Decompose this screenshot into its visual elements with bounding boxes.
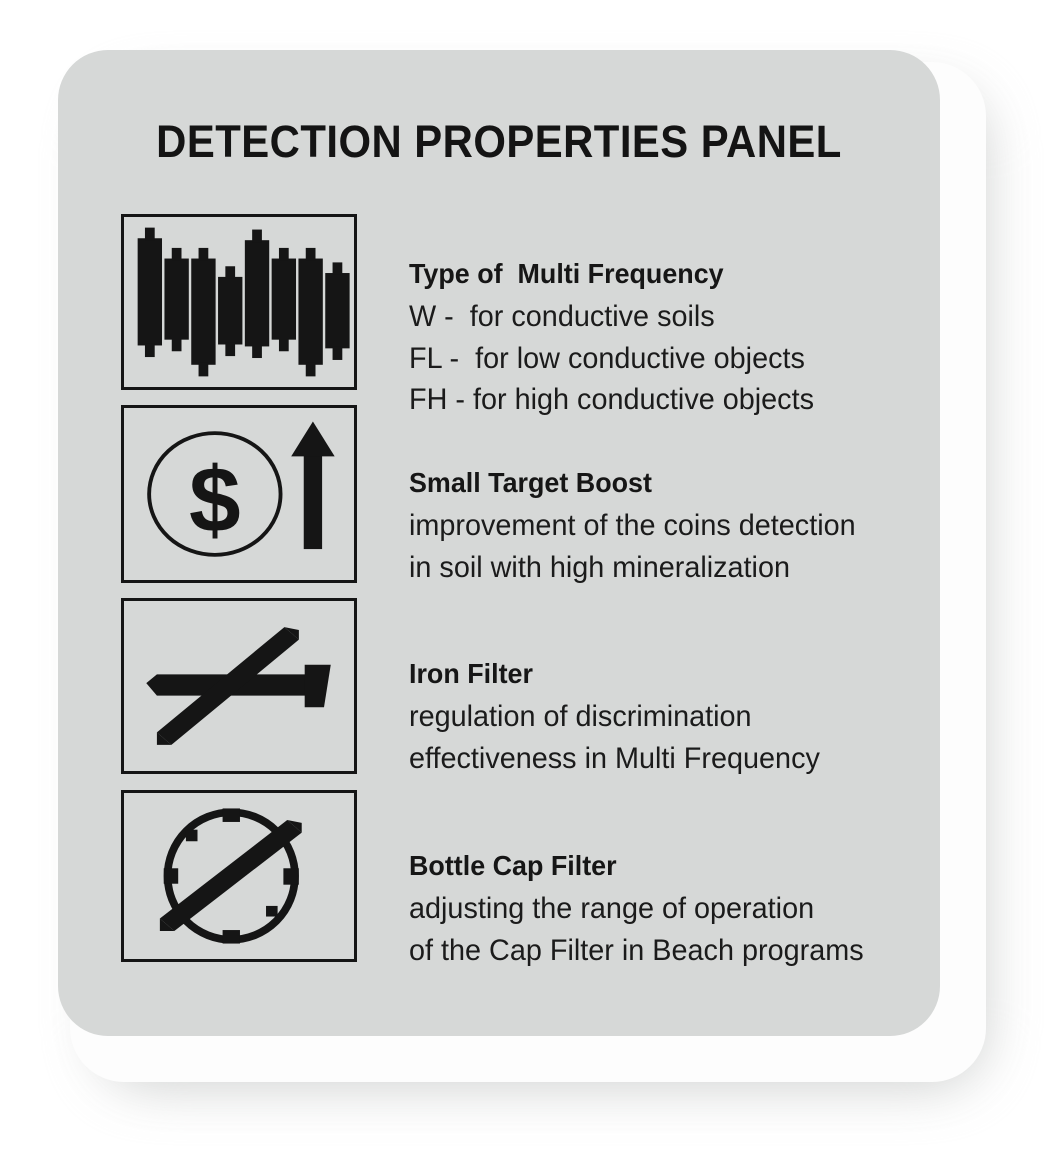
row-description: W - for conductive soils FL - for low co… bbox=[409, 296, 909, 420]
row-description: regulation of discrimination effectivene… bbox=[409, 696, 909, 779]
row-description: adjusting the range of operation of the … bbox=[409, 888, 909, 971]
frequency-candlestick-icon bbox=[121, 214, 357, 390]
row-line: adjusting the range of operation bbox=[409, 888, 889, 929]
row-line: W - for conductive soils bbox=[409, 296, 889, 337]
row-line: in soil with high mineralization bbox=[409, 547, 889, 588]
row-line: FL - for low conductive objects bbox=[409, 338, 889, 379]
row-heading: Type of Multi Frequency bbox=[409, 258, 889, 290]
row-heading: Iron Filter bbox=[409, 658, 889, 690]
row-line: of the Cap Filter in Beach programs bbox=[409, 930, 889, 971]
property-text-iron-filter: Iron Filter regulation of discrimination… bbox=[409, 658, 909, 779]
page-title: DETECTION PROPERTIES PANEL bbox=[89, 116, 909, 168]
row-heading: Bottle Cap Filter bbox=[409, 850, 889, 882]
crossed-out-nail-icon bbox=[121, 598, 357, 774]
coin-with-up-arrow-icon: $ bbox=[121, 405, 357, 583]
row-line: FH - for high conductive objects bbox=[409, 379, 889, 420]
property-text-bottle-cap-filter: Bottle Cap Filter adjusting the range of… bbox=[409, 850, 909, 971]
crossed-out-bottle-cap-icon bbox=[121, 790, 357, 962]
detection-properties-panel: DETECTION PROPERTIES PANEL Type of Multi… bbox=[58, 50, 940, 1036]
row-line: effectiveness in Multi Frequency bbox=[409, 738, 889, 779]
row-heading: Small Target Boost bbox=[409, 467, 889, 499]
row-line: regulation of discrimination bbox=[409, 696, 889, 737]
property-text-small-target-boost: Small Target Boost improvement of the co… bbox=[409, 467, 909, 588]
svg-text:$: $ bbox=[189, 448, 241, 552]
property-text-multi-frequency: Type of Multi Frequency W - for conducti… bbox=[409, 258, 909, 420]
row-line: improvement of the coins detection bbox=[409, 505, 889, 546]
row-description: improvement of the coins detection in so… bbox=[409, 505, 909, 588]
